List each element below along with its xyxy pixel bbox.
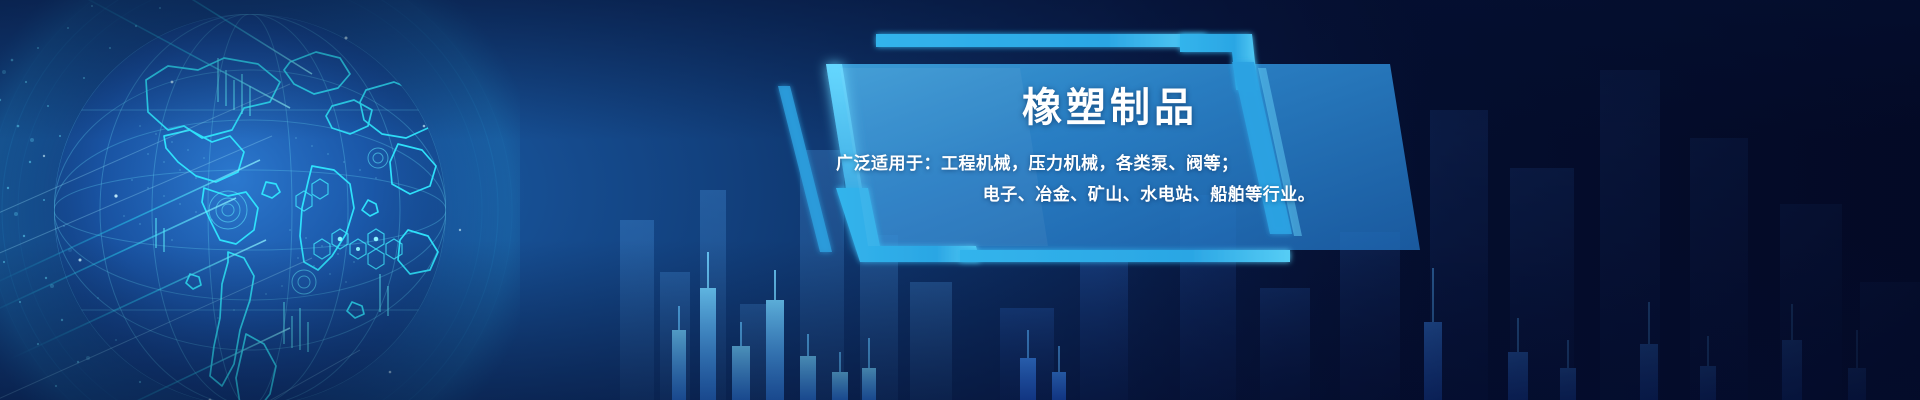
- digital-globe-graphic: [0, 0, 520, 400]
- product-banner: 橡塑制品 广泛适用于：工程机械，压力机械，各类泵、阀等； 电子、冶金、矿山、水电…: [0, 0, 1920, 400]
- frame-left-accent-bar: [778, 86, 832, 252]
- subtitle-line-2: 电子、冶金、矿山、水电站、船舶等行业。: [830, 179, 1390, 210]
- subtitle-line-1: 广泛适用于：工程机械，压力机械，各类泵、阀等；: [830, 148, 1390, 179]
- globe-sphere: [54, 14, 446, 400]
- banner-text-block: 橡塑制品 广泛适用于：工程机械，压力机械，各类泵、阀等； 电子、冶金、矿山、水电…: [830, 86, 1390, 211]
- page-title: 橡塑制品: [830, 86, 1390, 130]
- banner-subtitle: 广泛适用于：工程机械，压力机械，各类泵、阀等； 电子、冶金、矿山、水电站、船舶等…: [830, 148, 1390, 211]
- chart-candlesticks-right: [1424, 268, 1866, 400]
- frame-bottom-bar: [960, 250, 1290, 262]
- frame-top-bar: [876, 34, 1206, 47]
